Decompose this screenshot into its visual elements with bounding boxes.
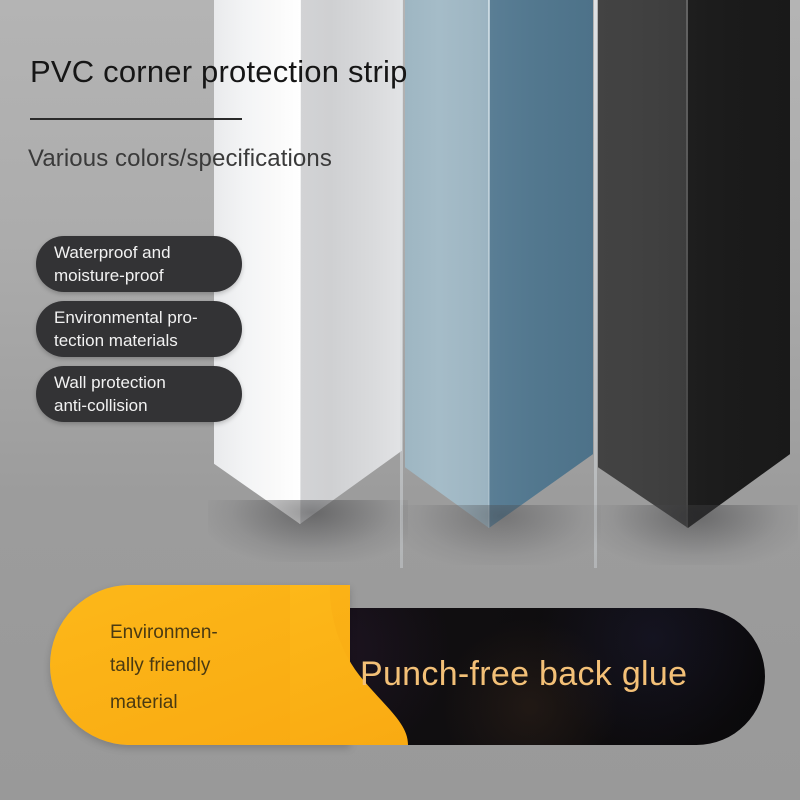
blue-strip-shadow bbox=[401, 505, 601, 565]
page-title: PVC corner protection strip bbox=[30, 54, 408, 90]
yellow-banner-line1: Environmen- bbox=[110, 622, 218, 644]
feature-pill-environmental-line1: Environmental pro- bbox=[54, 306, 242, 329]
dark-strip-left-face bbox=[598, 0, 688, 528]
blue-strip-left-face bbox=[405, 0, 489, 528]
feature-pill-environmental-line2: tection materials bbox=[54, 329, 242, 352]
strip-divider-2 bbox=[594, 0, 597, 568]
feature-pill-waterproof: Waterproof and moisture-proof bbox=[36, 236, 242, 292]
feature-pill-environmental: Environmental pro- tection materials bbox=[36, 301, 242, 357]
dark-strip-right-face bbox=[688, 0, 790, 528]
feature-pill-wall-protection-line2: anti-collision bbox=[54, 394, 242, 417]
feature-pill-waterproof-line1: Waterproof and bbox=[54, 241, 242, 264]
blue-strip-right-face bbox=[489, 0, 593, 528]
yellow-banner-line3: material bbox=[110, 692, 178, 714]
page-subtitle: Various colors/specifications bbox=[28, 145, 332, 173]
title-underline bbox=[30, 118, 242, 120]
blue-strip-fold-edge bbox=[488, 0, 490, 528]
feature-pill-wall-protection: Wall protection anti-collision bbox=[36, 366, 242, 422]
feature-pill-waterproof-line2: moisture-proof bbox=[54, 264, 242, 287]
black-banner-text: Punch-free back glue bbox=[360, 655, 687, 694]
dark-strip-shadow bbox=[594, 505, 798, 565]
blue-corner-strip bbox=[405, 0, 593, 568]
dark-strip-fold-edge bbox=[686, 0, 688, 528]
dark-corner-strip bbox=[598, 0, 790, 568]
white-strip-shadow bbox=[208, 500, 408, 562]
feature-pill-wall-protection-line1: Wall protection bbox=[54, 371, 242, 394]
yellow-banner-line2: tally friendly bbox=[110, 655, 210, 677]
product-ad-canvas: PVC corner protection strip Various colo… bbox=[0, 0, 800, 800]
